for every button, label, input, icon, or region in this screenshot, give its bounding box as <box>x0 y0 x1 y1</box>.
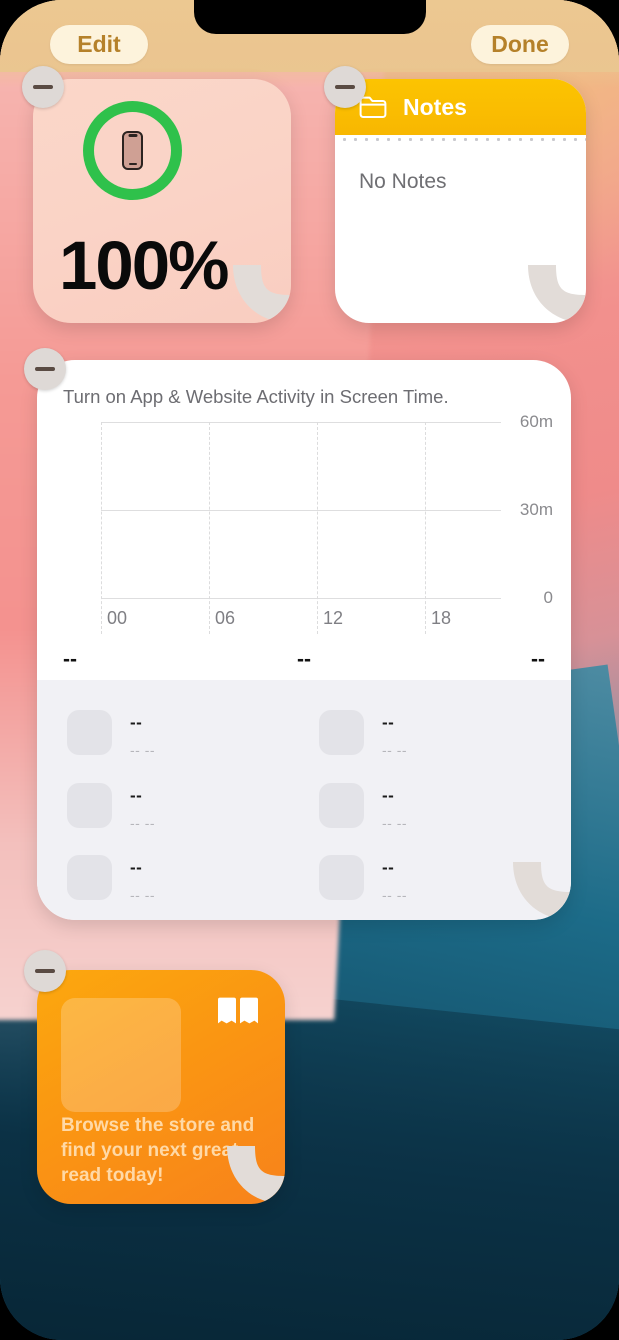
app-time: -- -- <box>130 815 155 831</box>
summary-dash-right: -- <box>531 648 545 672</box>
chart-gridline-0 <box>101 598 501 599</box>
summary-dash-left: -- <box>63 648 77 672</box>
device-notch <box>194 0 426 34</box>
remove-widget-notes-button[interactable] <box>324 66 366 108</box>
screen-time-summary-row: -- -- -- <box>63 648 545 672</box>
app-time: -- -- <box>382 815 407 831</box>
done-button[interactable]: Done <box>471 25 569 64</box>
app-name: -- <box>382 713 407 733</box>
screen-time-title: Turn on App & Website Activity in Screen… <box>63 386 449 408</box>
app-name: -- <box>130 713 155 733</box>
app-name: -- <box>382 858 407 878</box>
resize-handle-icon[interactable] <box>233 265 291 323</box>
list-item[interactable]: -- -- -- <box>319 775 541 848</box>
minus-icon <box>35 969 55 973</box>
chart-vline-06 <box>209 422 210 634</box>
minus-icon <box>335 85 355 89</box>
resize-handle-icon[interactable] <box>513 862 571 920</box>
app-time: -- -- <box>382 742 407 758</box>
chart-gridline-30 <box>101 510 501 511</box>
resize-handle-icon[interactable] <box>227 1146 285 1204</box>
notes-empty-label: No Notes <box>359 170 586 194</box>
list-item[interactable]: -- -- -- <box>67 775 289 848</box>
app-time: -- -- <box>130 742 155 758</box>
notes-perforation-divider <box>335 135 586 144</box>
remove-widget-books-button[interactable] <box>24 950 66 992</box>
chart-ytick-0: 0 <box>544 588 553 608</box>
chart-xtick-00: 00 <box>107 608 127 629</box>
open-book-icon <box>217 996 259 1026</box>
app-icon-placeholder <box>67 710 112 755</box>
notes-header: Notes <box>335 79 586 135</box>
chart-vline-12 <box>317 422 318 634</box>
chart-ytick-60: 60m <box>520 412 553 432</box>
minus-icon <box>35 367 55 371</box>
app-icon-placeholder <box>67 855 112 900</box>
chart-xtick-18: 18 <box>431 608 451 629</box>
notes-body: No Notes <box>335 144 586 194</box>
app-name: -- <box>382 786 407 806</box>
list-item[interactable]: -- -- -- <box>67 702 289 775</box>
app-icon-placeholder <box>319 783 364 828</box>
notes-title: Notes <box>403 94 467 121</box>
screen-time-app-list: -- -- -- -- -- -- -- -- -- <box>37 680 571 920</box>
app-icon-placeholder <box>67 783 112 828</box>
chart-ytick-30: 30m <box>520 500 553 520</box>
screen-time-chart: 60m 30m 0 00 06 12 18 <box>63 422 553 602</box>
app-name: -- <box>130 858 155 878</box>
battery-ring-gauge <box>83 101 182 200</box>
chart-vline-00 <box>101 422 102 634</box>
widget-notes[interactable]: Notes No Notes <box>335 79 586 323</box>
widget-screen-time[interactable]: Turn on App & Website Activity in Screen… <box>37 360 571 920</box>
edit-button[interactable]: Edit <box>50 25 148 64</box>
folder-icon <box>359 96 387 118</box>
app-time: -- -- <box>130 887 155 903</box>
app-time: -- -- <box>382 887 407 903</box>
iphone-screen: Edit Done 100% Notes No Notes <box>0 0 619 1340</box>
iphone-icon <box>122 131 143 170</box>
resize-handle-icon[interactable] <box>528 265 586 323</box>
battery-percent-label: 100% <box>59 226 227 305</box>
chart-vline-18 <box>425 422 426 634</box>
widget-books[interactable]: Browse the store and find your next grea… <box>37 970 285 1204</box>
list-item[interactable]: -- -- -- <box>319 702 541 775</box>
book-cover-placeholder <box>61 998 181 1112</box>
remove-widget-battery-button[interactable] <box>22 66 64 108</box>
list-item[interactable]: -- -- -- <box>67 847 289 920</box>
app-icon-placeholder <box>319 710 364 755</box>
chart-xtick-06: 06 <box>215 608 235 629</box>
summary-dash-center: -- <box>297 648 311 672</box>
list-item[interactable]: -- -- -- <box>319 847 541 920</box>
app-name: -- <box>130 786 155 806</box>
minus-icon <box>33 85 53 89</box>
chart-xtick-12: 12 <box>323 608 343 629</box>
remove-widget-screen-time-button[interactable] <box>24 348 66 390</box>
app-icon-placeholder <box>319 855 364 900</box>
widget-battery[interactable]: 100% <box>33 79 291 323</box>
chart-gridline-60 <box>101 422 501 423</box>
